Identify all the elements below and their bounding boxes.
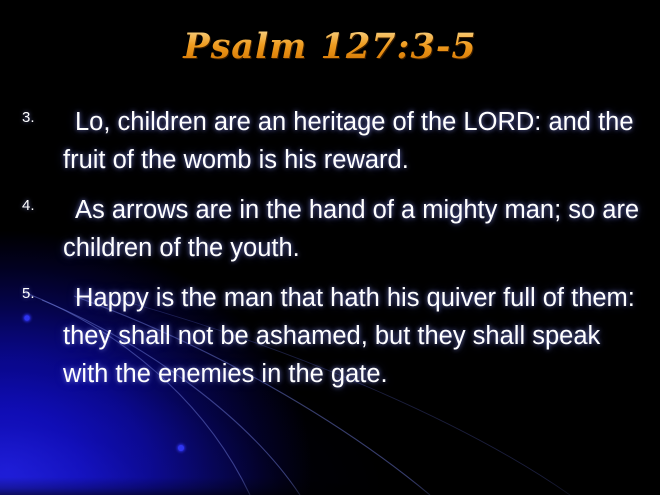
verse-text: Lo, children are an heritage of the LORD… <box>63 103 646 179</box>
verse-item: 4. As arrows are in the hand of a mighty… <box>18 191 646 267</box>
glow-dot-lower <box>174 441 188 455</box>
verse-text: Happy is the man that hath his quiver fu… <box>63 279 646 393</box>
verse-list: 3. Lo, children are an heritage of the L… <box>18 103 646 405</box>
slide-title: Psalm 127:3-5 <box>0 26 660 67</box>
verse-number: 4. <box>22 197 35 215</box>
presentation-slide: Psalm 127:3-5 Psalm 127:3-5 3. Lo, child… <box>0 0 660 495</box>
verse-number: 5. <box>22 285 35 303</box>
verse-item: 5. Happy is the man that hath his quiver… <box>18 279 646 393</box>
verse-item: 3. Lo, children are an heritage of the L… <box>18 103 646 179</box>
glow-dot-lower-core <box>178 445 184 451</box>
verse-number: 3. <box>22 109 35 127</box>
verse-text: As arrows are in the hand of a mighty ma… <box>63 191 646 267</box>
